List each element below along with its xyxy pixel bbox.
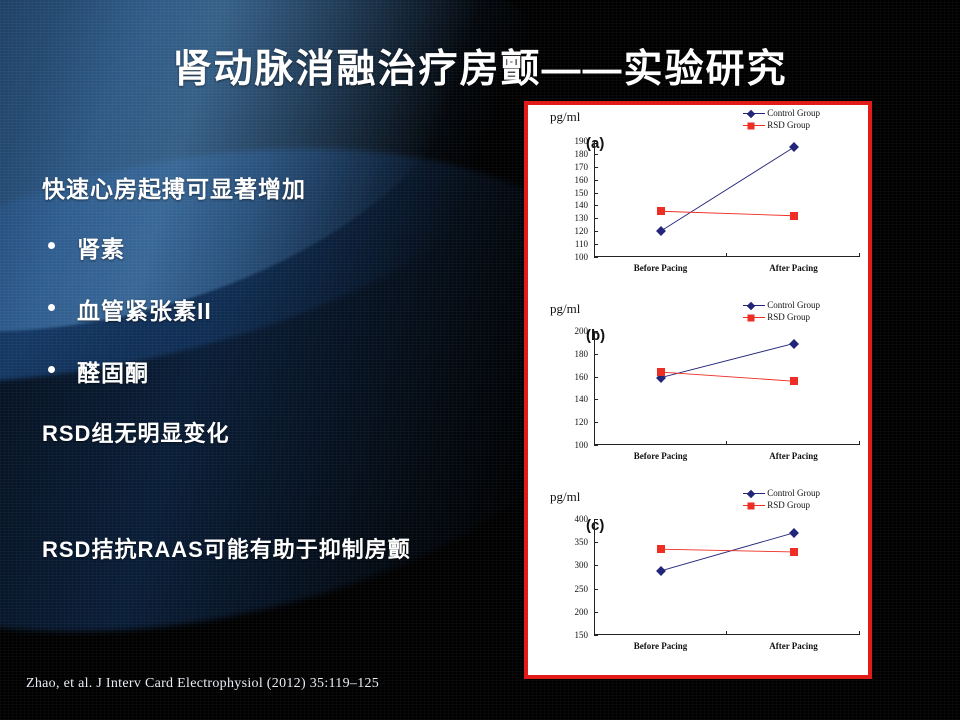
- diamond-marker-icon: [747, 489, 755, 497]
- y-axis-tick-label: 130: [575, 213, 595, 223]
- y-axis-tick-label: 350: [575, 537, 595, 547]
- chart-series-layer: [594, 519, 860, 635]
- data-point-rsd: [790, 548, 798, 556]
- chart-legend: Control GroupRSD Group: [743, 300, 820, 324]
- legend-line-rsd: [743, 317, 765, 318]
- y-axis-tick-label: 170: [575, 162, 595, 172]
- legend-entry: RSD Group: [743, 120, 820, 131]
- y-axis-tick-label: 120: [575, 417, 595, 427]
- slide-canvas: 肾动脉消融治疗房颤——实验研究 快速心房起搏可显著增加 肾素 血管紧张素II 醛…: [0, 0, 960, 720]
- list-item: 血管紧张素II: [40, 292, 510, 326]
- chart-legend: Control GroupRSD Group: [743, 488, 820, 512]
- square-marker-icon: [748, 502, 755, 509]
- bullet-label: 醛固酮: [77, 354, 149, 388]
- y-axis-tick-label: 400: [575, 514, 595, 524]
- page-title: 肾动脉消融治疗房颤——实验研究: [0, 38, 960, 94]
- citation-text: Zhao, et al. J Interv Card Electrophysio…: [26, 676, 379, 692]
- y-axis-tick-label: 140: [575, 200, 595, 210]
- legend-label: Control Group: [767, 488, 820, 499]
- legend-line-control: [743, 113, 765, 114]
- y-axis-tick-label: 180: [575, 149, 595, 159]
- chart-panel-a: pg/ml(a)Control GroupRSD Group1901801701…: [528, 105, 868, 297]
- legend-label: RSD Group: [767, 312, 810, 323]
- y-axis-tick-label: 100: [575, 440, 595, 450]
- lead-statement: 快速心房起搏可显著增加: [42, 170, 510, 204]
- list-item: 醛固酮: [40, 354, 510, 388]
- legend-entry: Control Group: [743, 300, 820, 311]
- y-axis-tick-label: 200: [575, 607, 595, 617]
- x-axis-tick-label: Before Pacing: [634, 263, 688, 273]
- chart-y-unit-label: pg/ml: [550, 301, 580, 317]
- x-axis-tick-label: After Pacing: [769, 263, 818, 273]
- bullet-label: 肾素: [77, 230, 125, 264]
- y-axis-tick-label: 300: [575, 560, 595, 570]
- y-axis-tick-label: 100: [575, 252, 595, 262]
- y-axis-tick-label: 180: [575, 349, 595, 359]
- diamond-marker-icon: [747, 301, 755, 309]
- series-line-rsd: [661, 211, 794, 216]
- x-axis-tick-label: Before Pacing: [634, 451, 688, 461]
- legend-entry: RSD Group: [743, 312, 820, 323]
- data-point-rsd: [657, 368, 665, 376]
- bullet-dot-icon: [48, 366, 55, 373]
- chart-plot-area: 200180160140120100Before PacingAfter Pac…: [594, 331, 860, 445]
- legend-label: RSD Group: [767, 120, 810, 131]
- square-marker-icon: [748, 122, 755, 129]
- legend-label: Control Group: [767, 108, 820, 119]
- series-line-rsd: [661, 372, 794, 381]
- legend-line-rsd: [743, 125, 765, 126]
- square-marker-icon: [748, 314, 755, 321]
- bullet-dot-icon: [48, 304, 55, 311]
- chart-plot-area: 400350300250200150Before PacingAfter Pac…: [594, 519, 860, 635]
- x-axis-tick-label: Before Pacing: [634, 641, 688, 651]
- data-point-rsd: [790, 212, 798, 220]
- bullet-dot-icon: [48, 242, 55, 249]
- series-line-control: [661, 344, 794, 378]
- legend-line-rsd: [743, 505, 765, 506]
- chart-plot-area: 190180170160150140130120110100Before Pac…: [594, 141, 860, 257]
- chart-legend: Control GroupRSD Group: [743, 108, 820, 132]
- chart-panel-b: pg/ml(b)Control GroupRSD Group2001801601…: [528, 297, 868, 485]
- y-axis-tick-label: 110: [575, 239, 594, 249]
- legend-label: RSD Group: [767, 500, 810, 511]
- legend-line-control: [743, 493, 765, 494]
- y-axis-tick-label: 150: [575, 188, 595, 198]
- chart-panel-c: pg/ml(c)Control GroupRSD Group4003503002…: [528, 485, 868, 675]
- legend-entry: Control Group: [743, 108, 820, 119]
- y-axis-tick-label: 200: [575, 326, 595, 336]
- statement-conclusion: RSD拮抗RAAS可能有助于抑制房颤: [42, 532, 510, 564]
- chart-y-unit-label: pg/ml: [550, 489, 580, 505]
- data-point-rsd: [657, 545, 665, 553]
- x-axis-tick-label: After Pacing: [769, 451, 818, 461]
- legend-entry: Control Group: [743, 488, 820, 499]
- series-line-control: [661, 147, 794, 231]
- y-axis-tick-label: 120: [575, 226, 595, 236]
- chart-y-unit-label: pg/ml: [550, 109, 580, 125]
- diamond-marker-icon: [747, 109, 755, 117]
- chart-series-layer: [594, 141, 860, 257]
- y-axis-tick-label: 150: [575, 630, 595, 640]
- figure-panel: pg/ml(a)Control GroupRSD Group1901801701…: [524, 101, 872, 679]
- bullet-label: 血管紧张素II: [77, 292, 212, 326]
- x-axis-tick-label: After Pacing: [769, 641, 818, 651]
- list-item: 肾素: [40, 230, 510, 264]
- y-axis-tick-label: 160: [575, 372, 595, 382]
- legend-line-control: [743, 305, 765, 306]
- statement-rsd-no-change: RSD组无明显变化: [42, 416, 510, 448]
- y-axis-tick-label: 160: [575, 175, 595, 185]
- legend-entry: RSD Group: [743, 500, 820, 511]
- chart-series-layer: [594, 331, 860, 445]
- y-axis-tick-label: 250: [575, 584, 595, 594]
- data-point-rsd: [657, 207, 665, 215]
- data-point-rsd: [790, 377, 798, 385]
- content-block: 快速心房起搏可显著增加 肾素 血管紧张素II 醛固酮 RSD组无明显变化 RSD…: [40, 170, 510, 564]
- y-axis-tick-label: 190: [575, 136, 595, 146]
- legend-label: Control Group: [767, 300, 820, 311]
- y-axis-tick-label: 140: [575, 394, 595, 404]
